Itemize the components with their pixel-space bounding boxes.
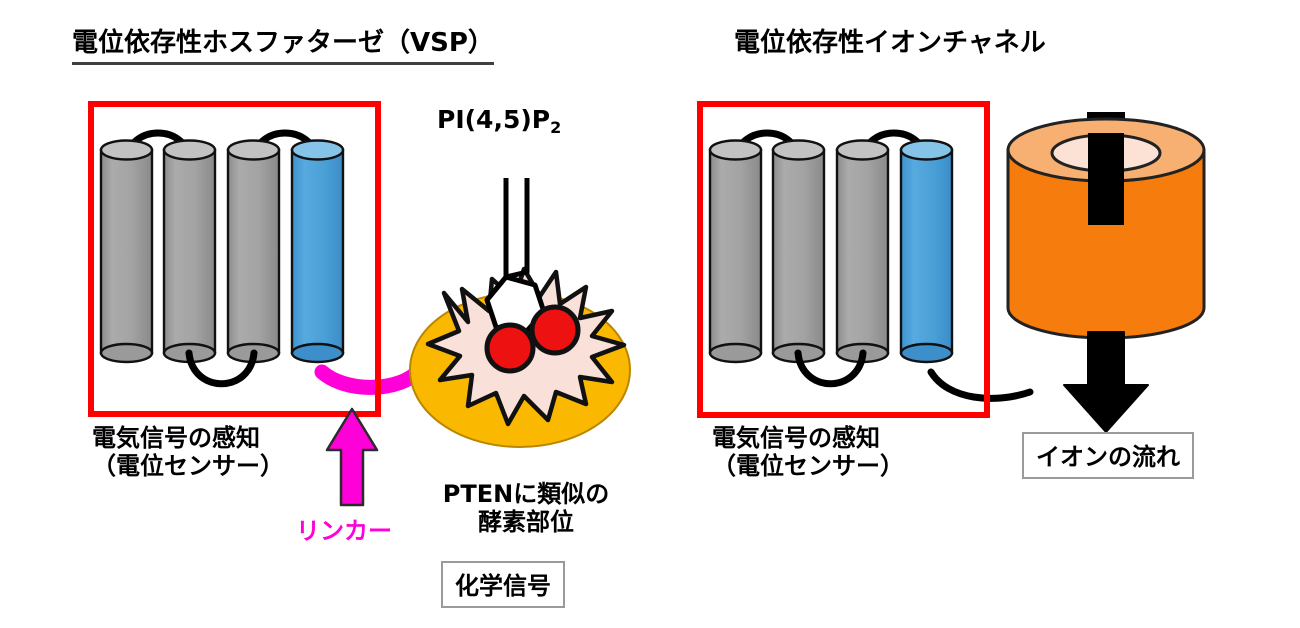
voltage-sensor-caption-channel: 電気信号の感知 （電位センサー） <box>712 424 904 481</box>
helix-loops-top <box>735 133 926 160</box>
helix-bundle <box>101 141 343 363</box>
enzyme-domain-caption: PTENに類似の 酵素部位 <box>406 480 646 537</box>
caption-line-2: （電位センサー） <box>712 452 904 480</box>
phosphate-dot <box>487 325 533 371</box>
substrate-label-subscript: 2 <box>550 118 561 137</box>
phosphate-dot <box>532 307 578 353</box>
helix-segment-3 <box>228 141 279 363</box>
caption-line-1: 電気信号の感知 <box>92 424 284 452</box>
panel-vsp: 電位依存性ホスファターゼ（VSP） <box>0 0 700 628</box>
helix-segment-4-voltage-sensing <box>292 141 343 363</box>
helix-segment-4-voltage-sensing <box>901 141 952 363</box>
enzyme-caption-line-1: PTENに類似の <box>406 480 646 508</box>
helix-segment-1 <box>101 141 152 363</box>
pore-connector-line <box>931 372 1030 398</box>
substrate-label-text: PI(4,5)P <box>437 105 550 134</box>
voltage-sensor-caption-vsp: 電気信号の感知 （電位センサー） <box>92 424 284 481</box>
helix-bundle <box>710 141 952 363</box>
panel-ion-channel: 電位依存性イオンチャネル <box>700 0 1300 628</box>
enzyme-caption-line-2: 酵素部位 <box>406 508 646 536</box>
output-badge-chemical-signal: 化学信号 <box>441 561 565 608</box>
caption-line-1: 電気信号の感知 <box>712 424 904 452</box>
helix-segment-2 <box>164 141 215 363</box>
substrate-label: PI(4,5)P2 <box>437 105 561 134</box>
helix-segment-2 <box>773 141 824 363</box>
helix-segment-1 <box>710 141 761 363</box>
ion-flow-arrow-through-pore <box>1088 133 1124 225</box>
caption-line-2: （電位センサー） <box>92 452 284 480</box>
linker-arrow-icon <box>327 409 377 505</box>
helix-segment-3 <box>837 141 888 363</box>
diagram-canvas: 電位依存性ホスファターゼ（VSP） <box>0 0 1300 628</box>
output-badge-ion-flow: イオンの流れ <box>1022 432 1194 479</box>
substrate-molecule <box>487 178 544 334</box>
ion-channel-graphics <box>700 0 1300 628</box>
ion-flow-arrow-bottom <box>1064 332 1148 432</box>
linker-label: リンカー <box>296 511 392 546</box>
helix-loops-top <box>126 133 317 160</box>
linker-curve <box>322 372 414 387</box>
